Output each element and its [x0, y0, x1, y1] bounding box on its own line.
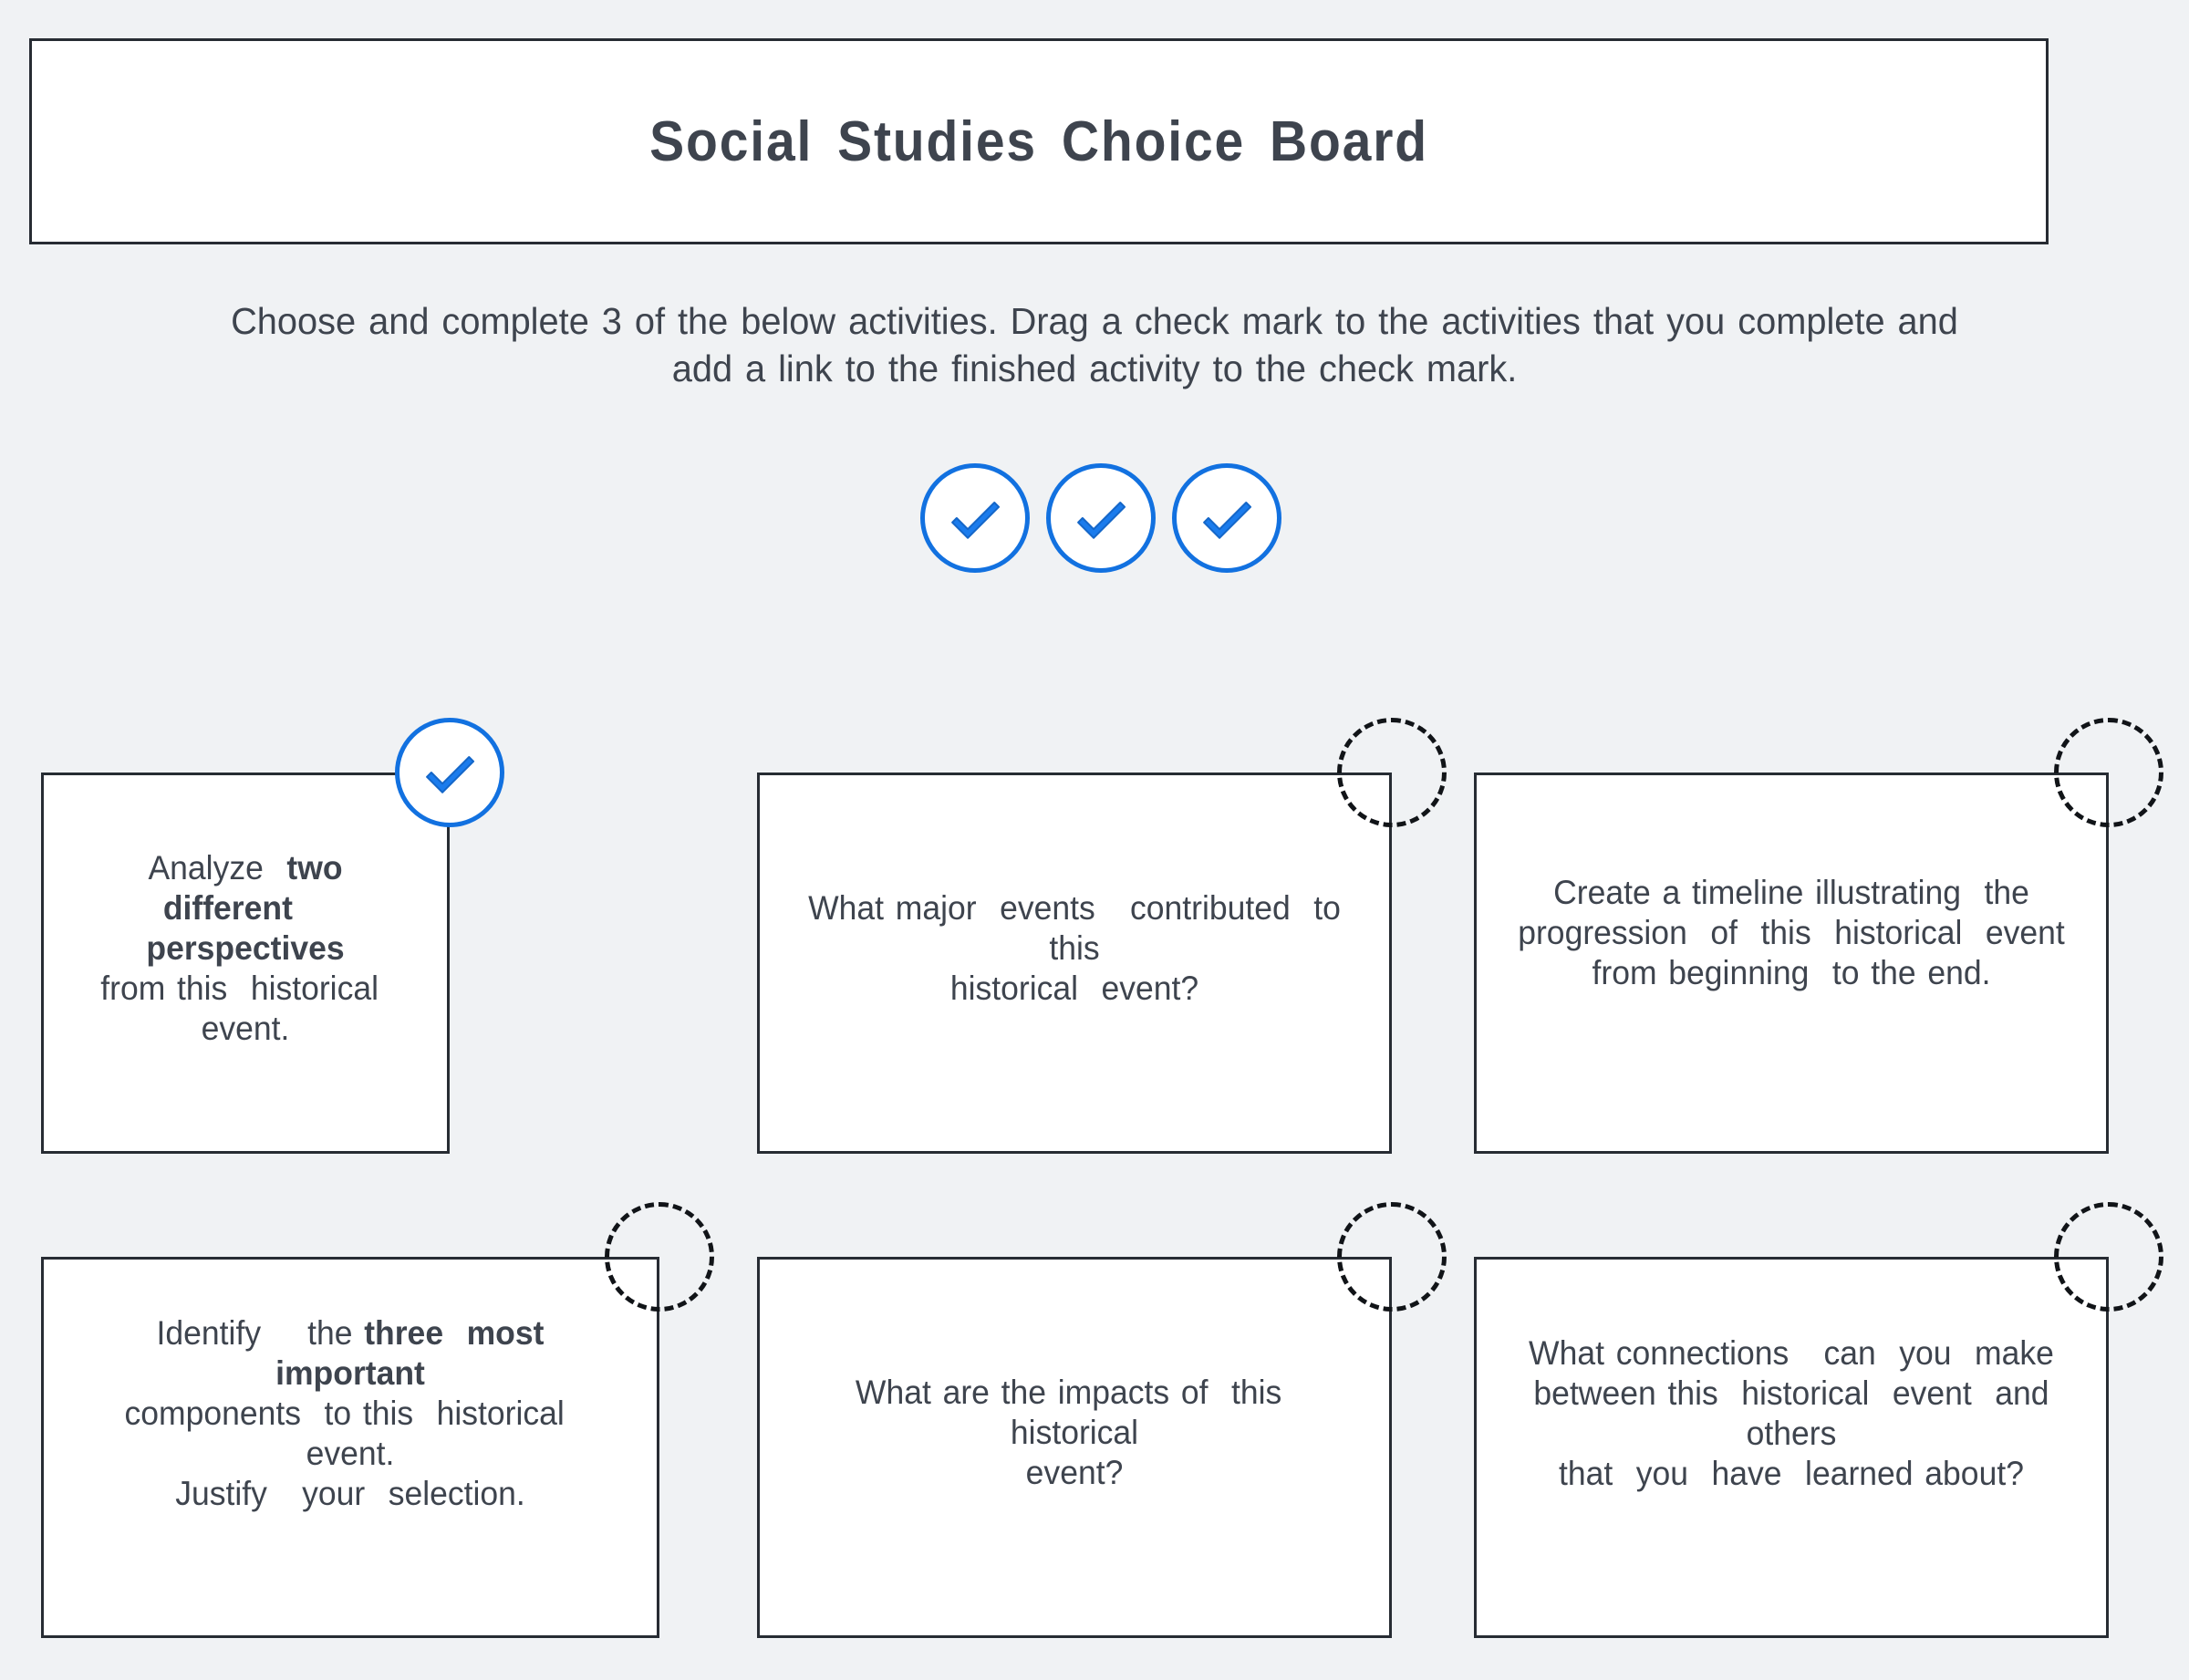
instructions-line-2: add a link to the finished activity to t… — [78, 345, 2112, 392]
activity-card-5-text: What are the impacts of this historicale… — [773, 1373, 1376, 1493]
activity-card-1[interactable]: Analyze two different perspectivesfrom t… — [41, 773, 450, 1154]
check-mark-drop-empty[interactable] — [1337, 1202, 1447, 1312]
activity-card-1-marker[interactable] — [395, 718, 504, 827]
check-mark-icon — [1070, 487, 1132, 549]
instructions-text: Choose and complete 3 of the below activ… — [78, 297, 2112, 392]
activity-card-5-marker[interactable] — [1337, 1202, 1447, 1312]
check-mark-icon — [419, 741, 481, 804]
activity-card-5[interactable]: What are the impacts of this historicale… — [757, 1257, 1392, 1638]
activity-card-2-text: What major events contributed to thishis… — [773, 888, 1376, 1009]
activity-card-4-text: Identify the three most importantcompone… — [56, 1313, 644, 1514]
activity-card-6-marker[interactable] — [2054, 1202, 2163, 1312]
activity-card-3-marker[interactable] — [2054, 718, 2163, 827]
palette-check-mark-3[interactable] — [1172, 463, 1281, 573]
page-title: Social Studies Choice Board — [649, 109, 1428, 174]
activity-card-2-marker[interactable] — [1337, 718, 1447, 827]
title-banner: Social Studies Choice Board — [29, 38, 2049, 244]
check-mark-drop-empty[interactable] — [1337, 718, 1447, 827]
activity-card-3-text: Create a timeline illustrating theprogre… — [1489, 873, 2093, 993]
activity-card-2[interactable]: What major events contributed to thishis… — [757, 773, 1392, 1154]
check-mark-icon — [944, 487, 1006, 549]
activity-card-1-text: Analyze two different perspectivesfrom t… — [52, 848, 439, 1049]
check-mark-drop-empty[interactable] — [2054, 718, 2163, 827]
activity-card-6[interactable]: What connections can you makebetween thi… — [1474, 1257, 2109, 1638]
choice-board-page: Social Studies Choice Board Choose and c… — [0, 0, 2189, 1680]
check-mark-icon — [1196, 487, 1258, 549]
activity-card-3[interactable]: Create a timeline illustrating theprogre… — [1474, 773, 2109, 1154]
check-mark-drop-filled[interactable] — [395, 718, 504, 827]
instructions-line-1: Choose and complete 3 of the below activ… — [78, 297, 2112, 345]
activity-card-6-text: What connections can you makebetween thi… — [1489, 1333, 2093, 1494]
check-mark-palette — [0, 463, 2189, 573]
palette-check-mark-2[interactable] — [1046, 463, 1156, 573]
check-mark-drop-empty[interactable] — [2054, 1202, 2163, 1312]
activity-card-4-marker[interactable] — [605, 1202, 714, 1312]
activity-card-4[interactable]: Identify the three most importantcompone… — [41, 1257, 659, 1638]
palette-check-mark-1[interactable] — [920, 463, 1030, 573]
check-mark-drop-empty[interactable] — [605, 1202, 714, 1312]
